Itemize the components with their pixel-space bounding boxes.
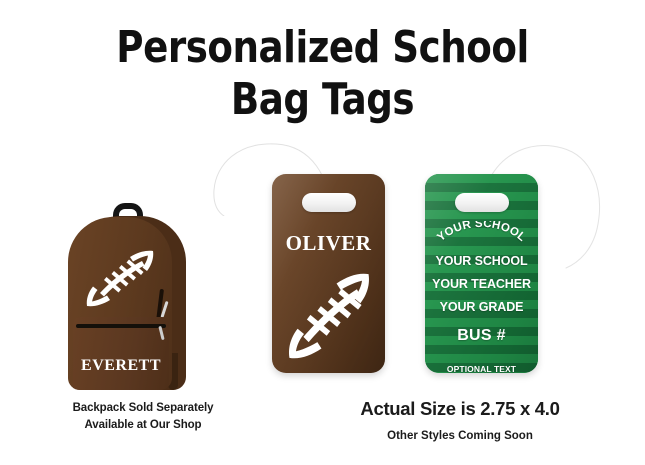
product-promo-image: Personalized School Bag Tags (0, 0, 645, 465)
green-tag-text-block: YOUR SCHOOL YOUR SCHOOL YOUR TEACHER YOU… (425, 221, 538, 373)
page-title: Personalized School Bag Tags (19, 22, 625, 126)
title-line-2: Bag Tags (19, 74, 625, 126)
football-icon (280, 266, 378, 366)
backpack-pocket-zipper (76, 324, 166, 328)
green-tag-arched-line: YOUR SCHOOL (425, 221, 538, 245)
other-styles-label: Other Styles Coming Soon (300, 428, 620, 444)
green-tag-grommet-icon (455, 193, 509, 212)
green-tag-line-bus: BUS # (425, 327, 538, 345)
backpack-body: EVERETT (68, 217, 172, 390)
backpack-disclaimer-line-1: Backpack Sold Separately (18, 400, 268, 417)
brown-tag-name: OLIVER (272, 231, 385, 256)
green-tag-line-1: YOUR SCHOOL (435, 221, 527, 244)
backpack-product-image: EVERETT (66, 203, 191, 390)
green-tag-line-3: YOUR TEACHER (425, 277, 538, 291)
green-tag-line-4: YOUR GRADE (425, 300, 538, 314)
title-line-1: Personalized School (116, 22, 528, 73)
backpack-front-pocket: EVERETT (73, 317, 169, 390)
backpack-disclaimer-line-2: Available at Our Shop (18, 417, 268, 434)
actual-size-label: Actual Size is 2.75 x 4.0 (300, 398, 620, 420)
brown-tag-grommet-icon (302, 193, 356, 212)
backpack-personalized-name: EVERETT (73, 357, 169, 375)
green-tag-optional-line-1: OPTIONAL TEXT (425, 364, 538, 373)
svg-text:YOUR SCHOOL: YOUR SCHOOL (435, 221, 527, 244)
green-tag: YOUR SCHOOL YOUR SCHOOL YOUR TEACHER YOU… (425, 174, 538, 373)
backpack-disclaimer: Backpack Sold Separately Available at Ou… (18, 400, 268, 434)
football-icon (78, 247, 162, 313)
brown-tag: OLIVER (272, 174, 385, 373)
green-tag-line-2: YOUR SCHOOL (425, 254, 538, 268)
